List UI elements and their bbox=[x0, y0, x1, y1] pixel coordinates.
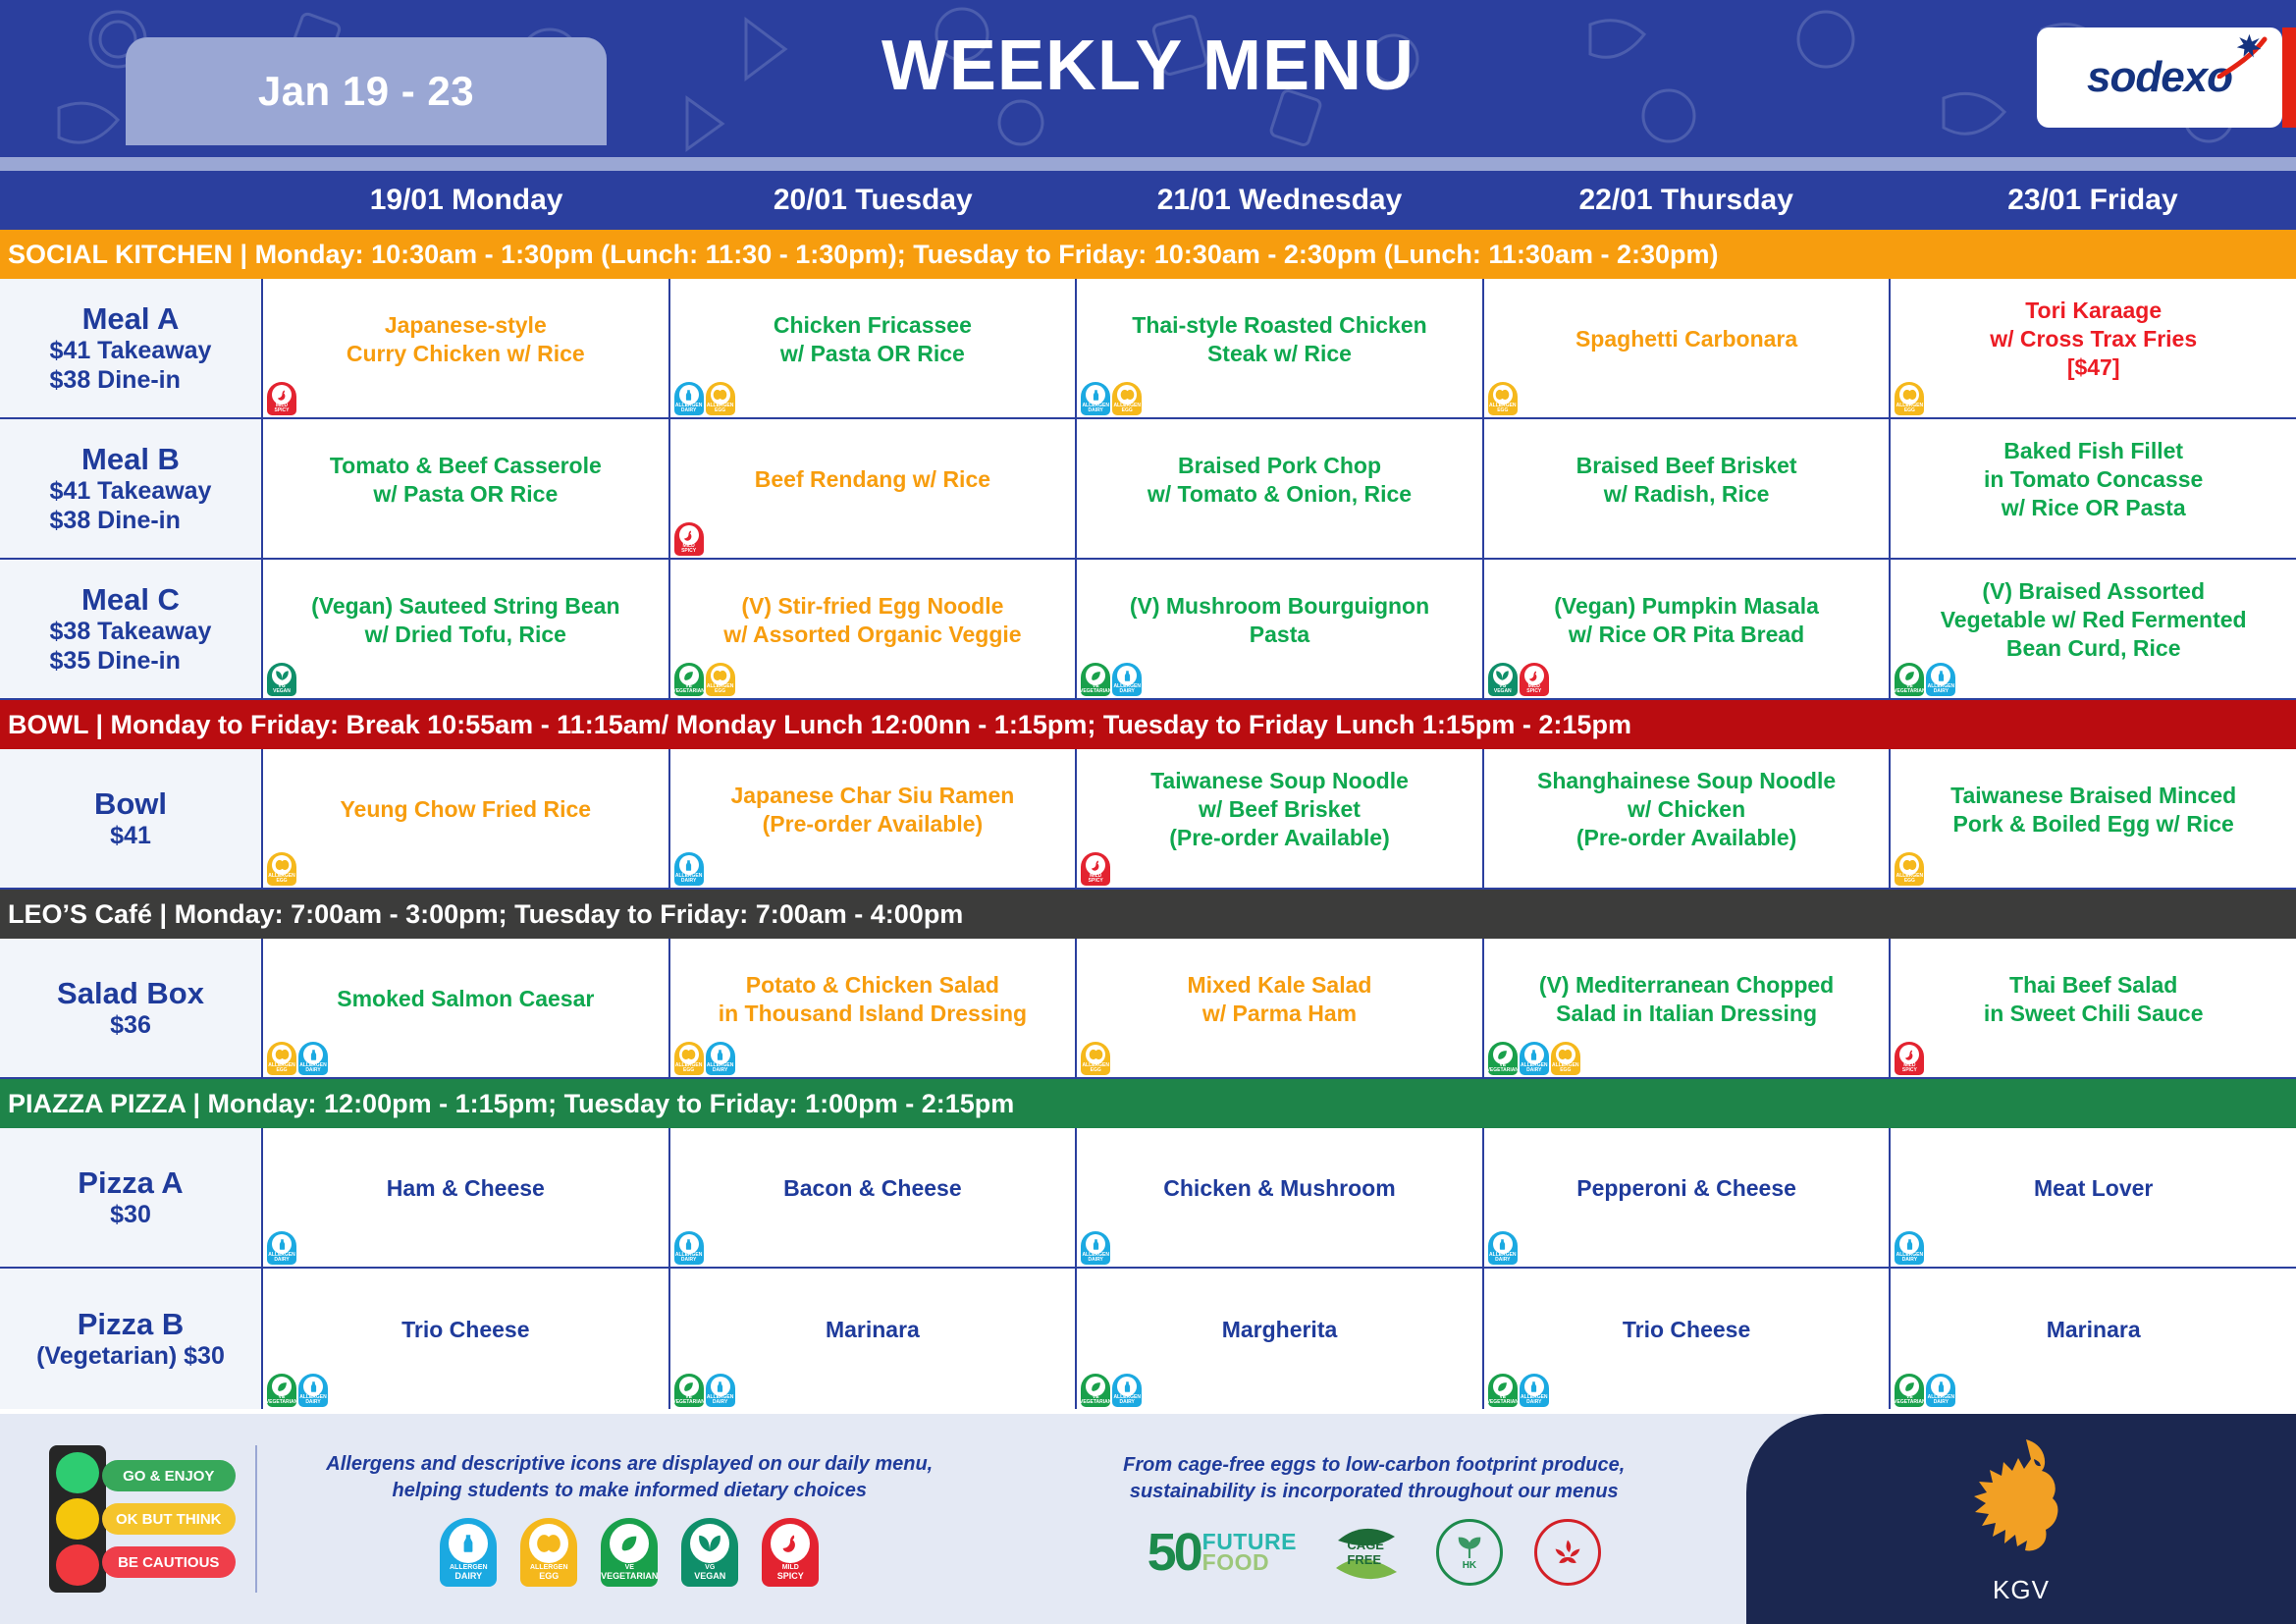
dish-icon-group: ALLERGENDAIRY bbox=[1895, 1231, 1924, 1265]
dairy-glyph bbox=[679, 1234, 699, 1254]
row-label-title: Meal B bbox=[81, 442, 180, 477]
future-food-logo: 50 FUTURE FOOD bbox=[1148, 1522, 1297, 1583]
dish-icon-group: VEVEGETARIANALLERGENDAIRY bbox=[1081, 663, 1142, 696]
traffic-label-go: GO & ENJOY bbox=[102, 1460, 236, 1491]
traffic-label-caution: BE CAUTIOUS bbox=[102, 1546, 236, 1578]
spicy-glyph bbox=[679, 525, 699, 545]
spicy-glyph bbox=[1899, 1045, 1919, 1064]
egg-icon: ALLERGENEGG bbox=[267, 1042, 296, 1075]
dish-icon-group: ALLERGENDAIRY bbox=[674, 1231, 704, 1265]
dish-icon-group: MILDSPICY bbox=[1895, 1042, 1924, 1075]
row-label-title: Bowl bbox=[94, 786, 167, 822]
spicy-icon: MILDSPICY bbox=[1081, 852, 1110, 886]
dairy-icon: ALLERGENDAIRY bbox=[1112, 663, 1142, 696]
egg-glyph bbox=[1117, 385, 1137, 405]
dish-name: Yeung Chow Fried Rice bbox=[340, 795, 591, 824]
spicy-glyph bbox=[1524, 666, 1544, 685]
dish-name: (Vegan) Pumpkin Masalaw/ Rice OR Pita Br… bbox=[1554, 592, 1819, 649]
dish-name: Thai-style Roasted ChickenSteak w/ Rice bbox=[1132, 311, 1426, 368]
menu-cell[interactable]: Taiwanese Soup Noodlew/ Beef Brisket(Pre… bbox=[1077, 749, 1484, 888]
dairy-glyph bbox=[1493, 1234, 1513, 1254]
egg-icon: ALLERGENEGG bbox=[1895, 852, 1924, 886]
dairy-icon: ALLERGENDAIRY bbox=[1520, 1374, 1549, 1407]
row-label-price: $38 Takeaway$35 Dine-in bbox=[50, 617, 212, 676]
header-bottom-strip bbox=[0, 157, 2296, 171]
traffic-lamp-green-icon bbox=[56, 1452, 99, 1493]
legend-dairy-icon: ALLERGENDAIRY bbox=[440, 1518, 497, 1587]
sodexo-swoosh-icon bbox=[2216, 33, 2274, 79]
vege-icon: VEVEGETARIAN bbox=[674, 1374, 704, 1407]
legend-vegan-glyph bbox=[690, 1524, 729, 1563]
vege-icon: VEVEGETARIAN bbox=[1081, 1374, 1110, 1407]
dish-icon-group: MILDSPICY bbox=[674, 522, 704, 556]
dish-name: Spaghetti Carbonara bbox=[1575, 325, 1797, 353]
kgv-school-logo: KGV bbox=[1746, 1414, 2296, 1624]
vege-icon: VEVEGETARIAN bbox=[1488, 1042, 1518, 1075]
menu-cell[interactable]: Tomato & Beef Casserolew/ Pasta OR Rice bbox=[263, 419, 670, 558]
menu-cell[interactable]: Baked Fish Filletin Tomato Concassew/ Ri… bbox=[1891, 419, 2296, 558]
menu-cell[interactable]: MargheritaVEVEGETARIANALLERGENDAIRY bbox=[1077, 1269, 1484, 1409]
vege-glyph bbox=[679, 666, 699, 685]
dairy-icon: ALLERGENDAIRY bbox=[1081, 1231, 1110, 1265]
menu-cell[interactable]: Tori Karaagew/ Cross Trax Fries[$47]ALLE… bbox=[1891, 279, 2296, 417]
dairy-icon: ALLERGENDAIRY bbox=[298, 1042, 328, 1075]
row-label-bowl: Bowl$41 bbox=[0, 749, 263, 888]
menu-cell[interactable]: Chicken & MushroomALLERGENDAIRY bbox=[1077, 1128, 1484, 1267]
dairy-icon: ALLERGENDAIRY bbox=[1081, 382, 1110, 415]
vege-glyph bbox=[272, 1377, 292, 1396]
vege-glyph bbox=[1899, 666, 1919, 685]
egg-icon: ALLERGENEGG bbox=[267, 852, 296, 886]
page-footer: GO & ENJOY OK BUT THINK BE CAUTIOUS Alle… bbox=[0, 1414, 2296, 1624]
menu-cell[interactable]: Trio CheeseVEVEGETARIANALLERGENDAIRY bbox=[1484, 1269, 1892, 1409]
vege-glyph bbox=[679, 1377, 699, 1396]
row-label-pizza-a: Pizza A$30 bbox=[0, 1128, 263, 1267]
dairy-icon: ALLERGENDAIRY bbox=[1926, 663, 1955, 696]
menu-cell[interactable]: MarinaraVEVEGETARIANALLERGENDAIRY bbox=[670, 1269, 1078, 1409]
section-banner-piazza-pizza: PIAZZA PIZZA | Monday: 12:00pm - 1:15pm;… bbox=[0, 1079, 2296, 1128]
menu-sections: SOCIAL KITCHEN | Monday: 10:30am - 1:30p… bbox=[0, 230, 2296, 1409]
spicy-glyph bbox=[1086, 855, 1105, 875]
vege-glyph bbox=[1493, 1045, 1513, 1064]
dish-name: Smoked Salmon Caesar bbox=[337, 985, 594, 1013]
dish-icon-group: ALLERGENEGG bbox=[1488, 382, 1518, 415]
egg-glyph bbox=[1493, 385, 1513, 405]
egg-icon: ALLERGENEGG bbox=[674, 1042, 704, 1075]
section-banner-bowl: BOWL | Monday to Friday: Break 10:55am -… bbox=[0, 700, 2296, 749]
day-header-row: 19/01 Monday 20/01 Tuesday 21/01 Wednesd… bbox=[0, 171, 2296, 230]
spicy-icon: MILDSPICY bbox=[267, 382, 296, 415]
day-header-spacer bbox=[0, 171, 263, 230]
menu-row: Pizza A$30Ham & CheeseALLERGENDAIRYBacon… bbox=[0, 1128, 2296, 1269]
dish-icon-group: ALLERGENDAIRY bbox=[1488, 1231, 1518, 1265]
menu-cell[interactable]: Beef Rendang w/ RiceMILDSPICY bbox=[670, 419, 1078, 558]
legend-spicy-icon: MILDSPICY bbox=[762, 1518, 819, 1587]
dairy-icon: ALLERGENDAIRY bbox=[267, 1231, 296, 1265]
egg-icon: ALLERGENEGG bbox=[1112, 382, 1142, 415]
dish-name: Ham & Cheese bbox=[387, 1174, 545, 1203]
vegan-icon: VGVEGAN bbox=[1488, 663, 1518, 696]
dish-icon-group: VEVEGETARIANALLERGENDAIRYALLERGENEGG bbox=[1488, 1042, 1580, 1075]
dish-icon-group: VEVEGETARIANALLERGENDAIRY bbox=[1895, 663, 1955, 696]
egg-glyph bbox=[711, 666, 730, 685]
menu-row: Bowl$41Yeung Chow Fried RiceALLERGENEGGJ… bbox=[0, 749, 2296, 890]
dish-name: Braised Pork Chopw/ Tomato & Onion, Rice bbox=[1148, 452, 1412, 509]
dish-name: Marinara bbox=[826, 1316, 920, 1344]
dish-name: Chicken & Mushroom bbox=[1163, 1174, 1395, 1203]
dish-icon-group: ALLERGENEGG bbox=[1895, 852, 1924, 886]
menu-cell[interactable]: Pepperoni & CheeseALLERGENDAIRY bbox=[1484, 1128, 1892, 1267]
vege-icon: VEVEGETARIAN bbox=[267, 1374, 296, 1407]
menu-row: Meal C$38 Takeaway$35 Dine-in(Vegan) Sau… bbox=[0, 560, 2296, 700]
spicy-icon: MILDSPICY bbox=[1520, 663, 1549, 696]
egg-icon: ALLERGENEGG bbox=[706, 382, 735, 415]
date-range-badge: Jan 19 - 23 bbox=[126, 37, 607, 145]
dairy-glyph bbox=[1931, 1377, 1950, 1396]
row-label-title: Meal A bbox=[82, 301, 180, 337]
vege-glyph bbox=[1086, 666, 1105, 685]
hk-grown-label: HK bbox=[1463, 1560, 1476, 1571]
legend-spicy-glyph bbox=[771, 1524, 810, 1563]
dish-name: Japanese Char Siu Ramen(Pre-order Availa… bbox=[730, 782, 1014, 839]
sustainability-logo-row: 50 FUTURE FOOD CAGE FREE bbox=[1148, 1519, 1601, 1586]
dairy-icon: ALLERGENDAIRY bbox=[1926, 1374, 1955, 1407]
row-label-price: $30 bbox=[110, 1200, 151, 1229]
legend-vege-icon: VEVEGETARIAN bbox=[601, 1518, 658, 1587]
dish-name: Margherita bbox=[1222, 1316, 1338, 1344]
legend-egg-icon: ALLERGENEGG bbox=[520, 1518, 577, 1587]
dish-name: Baked Fish Filletin Tomato Concassew/ Ri… bbox=[1984, 437, 2203, 521]
dairy-glyph bbox=[1117, 1377, 1137, 1396]
hk-grown-locally-logo: HK bbox=[1436, 1519, 1503, 1586]
menu-row: Salad Box$36Smoked Salmon CaesarALLERGEN… bbox=[0, 939, 2296, 1079]
menu-cell[interactable]: (Vegan) Sauteed String Beanw/ Dried Tofu… bbox=[263, 560, 670, 698]
spicy-icon: MILDSPICY bbox=[1895, 1042, 1924, 1075]
dish-name: Trio Cheese bbox=[1623, 1316, 1750, 1344]
spicy-glyph bbox=[272, 385, 292, 405]
vegan-icon: VGVEGAN bbox=[267, 663, 296, 696]
dish-icon-group: ALLERGENEGG bbox=[267, 852, 296, 886]
dairy-icon: ALLERGENDAIRY bbox=[298, 1374, 328, 1407]
dairy-icon: ALLERGENDAIRY bbox=[1488, 1231, 1518, 1265]
egg-glyph bbox=[1899, 385, 1919, 405]
dish-name: Tori Karaagew/ Cross Trax Fries[$47] bbox=[1990, 297, 2197, 381]
vege-icon: VEVEGETARIAN bbox=[1488, 1374, 1518, 1407]
dish-icon-group: VGVEGAN bbox=[267, 663, 296, 696]
day-header-monday: 19/01 Monday bbox=[263, 171, 669, 230]
dish-name: Marinara bbox=[2047, 1316, 2141, 1344]
vege-icon: VEVEGETARIAN bbox=[1895, 663, 1924, 696]
row-label-price: $41 Takeaway$38 Dine-in bbox=[50, 476, 212, 535]
dairy-icon: ALLERGENDAIRY bbox=[674, 852, 704, 886]
dairy-icon: ALLERGENDAIRY bbox=[674, 382, 704, 415]
kgv-lion-icon bbox=[1957, 1434, 2085, 1571]
day-header-thursday: 22/01 Thursday bbox=[1483, 171, 1890, 230]
dish-name: Bacon & Cheese bbox=[783, 1174, 962, 1203]
vege-glyph bbox=[1899, 1377, 1919, 1396]
vege-glyph bbox=[1086, 1377, 1105, 1396]
dish-name: Meat Lover bbox=[2034, 1174, 2153, 1203]
menu-row: Pizza B(Vegetarian) $30Trio CheeseVEVEGE… bbox=[0, 1269, 2296, 1409]
dairy-icon: ALLERGENDAIRY bbox=[706, 1042, 735, 1075]
egg-icon: ALLERGENEGG bbox=[1488, 382, 1518, 415]
allergen-legend: Allergens and descriptive icons are disp… bbox=[257, 1451, 1002, 1587]
dairy-glyph bbox=[1524, 1377, 1544, 1396]
dish-name: (Vegan) Sauteed String Beanw/ Dried Tofu… bbox=[311, 592, 619, 649]
row-label-salad-box: Salad Box$36 bbox=[0, 939, 263, 1077]
menu-cell[interactable]: (Vegan) Pumpkin Masalaw/ Rice OR Pita Br… bbox=[1484, 560, 1892, 698]
sustainability-legend: From cage-free eggs to low-carbon footpr… bbox=[1002, 1452, 1747, 1586]
menu-row: Meal A$41 Takeaway$38 Dine-inJapanese-st… bbox=[0, 279, 2296, 419]
menu-cell[interactable]: Ham & CheeseALLERGENDAIRY bbox=[263, 1128, 670, 1267]
traffic-light-legend: GO & ENJOY OK BUT THINK BE CAUTIOUS bbox=[0, 1445, 255, 1593]
dish-icon-group: ALLERGENEGG bbox=[1081, 1042, 1110, 1075]
egg-glyph bbox=[679, 1045, 699, 1064]
dish-icon-group: VEVEGETARIANALLERGENDAIRY bbox=[1488, 1374, 1549, 1407]
dairy-glyph bbox=[711, 1377, 730, 1396]
dish-icon-group: VEVEGETARIANALLERGENEGG bbox=[674, 663, 735, 696]
sodexo-wordmark: sodexo bbox=[2087, 53, 2232, 102]
dairy-glyph bbox=[711, 1045, 730, 1064]
menu-cell[interactable]: Potato & Chicken Saladin Thousand Island… bbox=[670, 939, 1078, 1077]
row-label-price: $41 bbox=[110, 821, 151, 850]
dish-icon-group: VEVEGETARIANALLERGENDAIRY bbox=[267, 1374, 328, 1407]
row-label-price: (Vegetarian) $30 bbox=[36, 1341, 225, 1371]
dish-icon-group: ALLERGENDAIRYALLERGENEGG bbox=[674, 382, 735, 415]
vege-icon: VEVEGETARIAN bbox=[674, 663, 704, 696]
date-range-label: Jan 19 - 23 bbox=[258, 68, 474, 115]
menu-cell[interactable]: Braised Beef Brisketw/ Radish, Rice bbox=[1484, 419, 1892, 558]
day-header-wednesday: 21/01 Wednesday bbox=[1076, 171, 1482, 230]
menu-cell[interactable]: Smoked Salmon CaesarALLERGENEGGALLERGEND… bbox=[263, 939, 670, 1077]
page-header: WEEKLY MENU Jan 19 - 23 sodexo bbox=[0, 0, 2296, 157]
menu-cell[interactable]: Japanese Char Siu Ramen(Pre-order Availa… bbox=[670, 749, 1078, 888]
menu-cell[interactable]: Thai Beef Saladin Sweet Chili SauceMILDS… bbox=[1891, 939, 2296, 1077]
dish-icon-group: VEVEGETARIANALLERGENDAIRY bbox=[1081, 1374, 1142, 1407]
dairy-glyph bbox=[1117, 666, 1137, 685]
dairy-glyph bbox=[679, 385, 699, 405]
traffic-lamp-yellow-icon bbox=[56, 1498, 99, 1540]
legend-dairy-glyph bbox=[449, 1524, 488, 1563]
dish-name: (V) Mediterranean ChoppedSalad in Italia… bbox=[1539, 971, 1834, 1028]
dish-icon-group: MILDSPICY bbox=[267, 382, 296, 415]
legend-vege-glyph bbox=[610, 1524, 649, 1563]
row-label-price: $41 Takeaway$38 Dine-in bbox=[50, 336, 212, 395]
row-label-pizza-b: Pizza B(Vegetarian) $30 bbox=[0, 1269, 263, 1409]
row-label-meal-c: Meal C$38 Takeaway$35 Dine-in bbox=[0, 560, 263, 698]
egg-icon: ALLERGENEGG bbox=[1081, 1042, 1110, 1075]
dish-icon-group: ALLERGENDAIRYALLERGENEGG bbox=[1081, 382, 1142, 415]
menu-cell[interactable]: Braised Pork Chopw/ Tomato & Onion, Rice bbox=[1077, 419, 1484, 558]
vege-icon: VEVEGETARIAN bbox=[1081, 663, 1110, 696]
dairy-glyph bbox=[1899, 1234, 1919, 1254]
vegan-glyph bbox=[272, 666, 292, 685]
day-header-tuesday: 20/01 Tuesday bbox=[669, 171, 1076, 230]
menu-cell[interactable]: Meat LoverALLERGENDAIRY bbox=[1891, 1128, 2296, 1267]
weekly-menu-page: WEEKLY MENU Jan 19 - 23 sodexo 19/01 Mon… bbox=[0, 0, 2296, 1624]
row-label-title: Pizza B bbox=[78, 1307, 185, 1342]
menu-cell[interactable]: (V) Mushroom BourguignonPastaVEVEGETARIA… bbox=[1077, 560, 1484, 698]
dish-name: Taiwanese Braised MincedPork & Boiled Eg… bbox=[1950, 782, 2236, 839]
egg-glyph bbox=[272, 1045, 292, 1064]
menu-cell[interactable]: (V) Mediterranean ChoppedSalad in Italia… bbox=[1484, 939, 1892, 1077]
menu-cell[interactable]: Spaghetti CarbonaraALLERGENEGG bbox=[1484, 279, 1892, 417]
hk-plant-icon bbox=[1453, 1535, 1486, 1560]
legend-egg-glyph bbox=[529, 1524, 568, 1563]
menu-cell[interactable]: Shanghainese Soup Noodlew/ Chicken(Pre-o… bbox=[1484, 749, 1892, 888]
cage-free-logo: CAGE FREE bbox=[1328, 1519, 1405, 1586]
dish-icon-group: ALLERGENEGG bbox=[1895, 382, 1924, 415]
menu-cell[interactable]: (V) Stir-fried Egg Noodlew/ Assorted Org… bbox=[670, 560, 1078, 698]
row-label-title: Pizza A bbox=[78, 1165, 183, 1201]
row-label-meal-a: Meal A$41 Takeaway$38 Dine-in bbox=[0, 279, 263, 417]
dish-name: Shanghainese Soup Noodlew/ Chicken(Pre-o… bbox=[1537, 767, 1836, 851]
traffic-light-icon bbox=[49, 1445, 106, 1593]
dairy-glyph bbox=[1931, 666, 1950, 685]
menu-cell[interactable]: Bacon & CheeseALLERGENDAIRY bbox=[670, 1128, 1078, 1267]
dish-name: Thai Beef Saladin Sweet Chili Sauce bbox=[1984, 971, 2204, 1028]
menu-cell[interactable]: Mixed Kale Saladw/ Parma HamALLERGENEGG bbox=[1077, 939, 1484, 1077]
dish-name: Japanese-styleCurry Chicken w/ Rice bbox=[347, 311, 585, 368]
dish-icon-group: ALLERGENDAIRY bbox=[267, 1231, 296, 1265]
allergen-legend-text: Allergens and descriptive icons are disp… bbox=[326, 1451, 933, 1504]
dairy-icon: ALLERGENDAIRY bbox=[1895, 1231, 1924, 1265]
dish-icon-group: MILDSPICY bbox=[1081, 852, 1110, 886]
dish-name: Mixed Kale Saladw/ Parma Ham bbox=[1188, 971, 1372, 1028]
day-header-friday: 23/01 Friday bbox=[1890, 171, 2296, 230]
future-food-word-2: FOOD bbox=[1202, 1552, 1297, 1573]
dairy-icon: ALLERGENDAIRY bbox=[674, 1231, 704, 1265]
dish-icon-group: ALLERGENDAIRY bbox=[1081, 1231, 1110, 1265]
dairy-glyph bbox=[679, 855, 699, 875]
egg-icon: ALLERGENEGG bbox=[706, 663, 735, 696]
allergen-icon-row: ALLERGENDAIRYALLERGENEGGVEVEGETARIANVGVE… bbox=[440, 1518, 819, 1587]
sustainability-text: From cage-free eggs to low-carbon footpr… bbox=[1123, 1452, 1625, 1505]
vege-icon: VEVEGETARIAN bbox=[1895, 1374, 1924, 1407]
future-food-number: 50 bbox=[1148, 1522, 1201, 1583]
egg-glyph bbox=[272, 855, 292, 875]
egg-icon: ALLERGENEGG bbox=[1551, 1042, 1580, 1075]
vege-glyph bbox=[1493, 1377, 1513, 1396]
made-in-hong-kong-logo bbox=[1534, 1519, 1601, 1586]
spicy-icon: MILDSPICY bbox=[674, 522, 704, 556]
vegan-glyph bbox=[1493, 666, 1513, 685]
dish-name: (V) Braised AssortedVegetable w/ Red Fer… bbox=[1941, 577, 2247, 662]
logo-red-stripe bbox=[2282, 27, 2296, 128]
dairy-icon: ALLERGENDAIRY bbox=[1112, 1374, 1142, 1407]
sodexo-logo: sodexo bbox=[2037, 27, 2282, 128]
menu-cell[interactable]: Japanese-styleCurry Chicken w/ RiceMILDS… bbox=[263, 279, 670, 417]
dish-name: Tomato & Beef Casserolew/ Pasta OR Rice bbox=[330, 452, 602, 509]
dish-name: Potato & Chicken Saladin Thousand Island… bbox=[719, 971, 1027, 1028]
dish-icon-group: ALLERGENEGGALLERGENDAIRY bbox=[674, 1042, 735, 1075]
menu-cell[interactable]: MarinaraVEVEGETARIANALLERGENDAIRY bbox=[1891, 1269, 2296, 1409]
menu-row: Meal B$41 Takeaway$38 Dine-inTomato & Be… bbox=[0, 419, 2296, 560]
section-banner-leos-cafe: LEO’S Café | Monday: 7:00am - 3:00pm; Tu… bbox=[0, 890, 2296, 939]
kgv-school-name: KGV bbox=[1993, 1575, 2050, 1605]
dish-name: (V) Mushroom BourguignonPasta bbox=[1130, 592, 1429, 649]
dish-icon-group: ALLERGENEGGALLERGENDAIRY bbox=[267, 1042, 328, 1075]
egg-glyph bbox=[1086, 1045, 1105, 1064]
row-label-title: Meal C bbox=[81, 582, 180, 618]
dairy-glyph bbox=[1524, 1045, 1544, 1064]
traffic-lamp-red-icon bbox=[56, 1544, 99, 1586]
row-label-price: $36 bbox=[110, 1010, 151, 1040]
dish-icon-group: ALLERGENDAIRY bbox=[674, 852, 704, 886]
menu-cell[interactable]: (V) Braised AssortedVegetable w/ Red Fer… bbox=[1891, 560, 2296, 698]
dish-icon-group: VEVEGETARIANALLERGENDAIRY bbox=[1895, 1374, 1955, 1407]
dish-name: Trio Cheese bbox=[401, 1316, 529, 1344]
menu-cell[interactable]: Thai-style Roasted ChickenSteak w/ RiceA… bbox=[1077, 279, 1484, 417]
row-label-title: Salad Box bbox=[57, 976, 204, 1011]
dish-icon-group: VGVEGANMILDSPICY bbox=[1488, 663, 1549, 696]
menu-cell[interactable]: Yeung Chow Fried RiceALLERGENEGG bbox=[263, 749, 670, 888]
dish-icon-group: VEVEGETARIANALLERGENDAIRY bbox=[674, 1374, 735, 1407]
dish-name: Taiwanese Soup Noodlew/ Beef Brisket(Pre… bbox=[1150, 767, 1409, 851]
bauhinia-icon bbox=[1550, 1537, 1585, 1568]
section-banner-social-kitchen: SOCIAL KITCHEN | Monday: 10:30am - 1:30p… bbox=[0, 230, 2296, 279]
dairy-glyph bbox=[303, 1377, 323, 1396]
dairy-glyph bbox=[1086, 385, 1105, 405]
dairy-glyph bbox=[303, 1045, 323, 1064]
legend-vegan-icon: VGVEGAN bbox=[681, 1518, 738, 1587]
egg-glyph bbox=[1899, 855, 1919, 875]
dish-name: Beef Rendang w/ Rice bbox=[755, 465, 990, 494]
dairy-icon: ALLERGENDAIRY bbox=[1520, 1042, 1549, 1075]
egg-glyph bbox=[1556, 1045, 1575, 1064]
egg-glyph bbox=[711, 385, 730, 405]
dairy-glyph bbox=[1086, 1234, 1105, 1254]
menu-cell[interactable]: Trio CheeseVEVEGETARIANALLERGENDAIRY bbox=[263, 1269, 670, 1409]
menu-cell[interactable]: Chicken Fricasseew/ Pasta OR RiceALLERGE… bbox=[670, 279, 1078, 417]
egg-icon: ALLERGENEGG bbox=[1895, 382, 1924, 415]
dish-name: Chicken Fricasseew/ Pasta OR Rice bbox=[774, 311, 972, 368]
dairy-glyph bbox=[272, 1234, 292, 1254]
dish-name: Braised Beef Brisketw/ Radish, Rice bbox=[1576, 452, 1797, 509]
traffic-label-ok: OK BUT THINK bbox=[102, 1503, 236, 1535]
row-label-meal-b: Meal B$41 Takeaway$38 Dine-in bbox=[0, 419, 263, 558]
dish-name: Pepperoni & Cheese bbox=[1576, 1174, 1796, 1203]
dish-name: (V) Stir-fried Egg Noodlew/ Assorted Org… bbox=[723, 592, 1021, 649]
dairy-icon: ALLERGENDAIRY bbox=[706, 1374, 735, 1407]
cage-free-label: CAGE FREE bbox=[1347, 1538, 1385, 1567]
menu-cell[interactable]: Taiwanese Braised MincedPork & Boiled Eg… bbox=[1891, 749, 2296, 888]
